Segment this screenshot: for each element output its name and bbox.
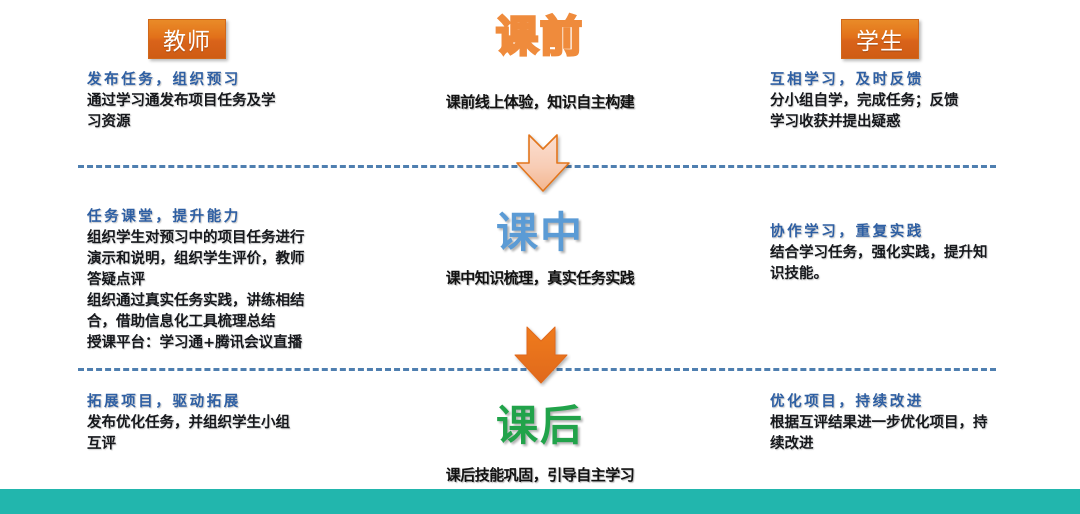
stage-caption-in-class: 课中知识梳理，真实任务实践	[380, 267, 700, 288]
badge-student: 学生	[841, 19, 919, 59]
bottom-accent-bar	[0, 489, 1080, 514]
student-block-3-heading: 优化项目，持续改进	[770, 392, 1042, 413]
student-block-3-line-2: 续改进	[770, 434, 1042, 455]
student-block-1-heading: 互相学习，及时反馈	[770, 70, 1042, 91]
student-block-1-line-1: 分小组自学，完成任务；反馈	[770, 91, 1042, 112]
teacher-block-2-line-1: 组织学生对预习中的项目任务进行	[87, 228, 367, 249]
teacher-block-3-heading: 拓展项目，驱动拓展	[87, 392, 359, 413]
teacher-block-2-line-5: 合，借助信息化工具梳理总结	[87, 312, 367, 333]
teacher-block-2-line-4: 组织通过真实任务实践，讲练相结	[87, 291, 367, 312]
stage-caption-before-class: 课前线上体验，知识自主构建	[380, 91, 700, 112]
student-block-3-line-1: 根据互评结果进一步优化项目，持	[770, 413, 1042, 434]
student-block-2-line-1: 结合学习任务，强化实践，提升知	[770, 243, 1042, 264]
teacher-block-2-line-6: 授课平台：学习通+腾讯会议直播	[87, 333, 367, 354]
teacher-block-1-heading: 发布任务，组织预习	[87, 70, 359, 91]
teacher-block-2-heading: 任务课堂，提升能力	[87, 207, 367, 228]
stage-caption-after-class: 课后技能巩固，引导自主学习	[380, 464, 700, 485]
teacher-block-1-line-1: 通过学习通发布项目任务及学	[87, 91, 359, 112]
teacher-block-2-line-3: 答疑点评	[87, 270, 367, 291]
teacher-block-after-class: 拓展项目，驱动拓展 发布优化任务，并组织学生小组 互评	[87, 392, 359, 455]
stage-title-in-class: 课中	[410, 212, 670, 254]
student-block-before-class: 互相学习，及时反馈 分小组自学，完成任务；反馈 学习收获并提出疑惑	[770, 70, 1042, 133]
stage-title-after-class: 课后	[410, 405, 670, 447]
student-block-2-line-2: 识技能。	[770, 264, 1042, 285]
teacher-block-3-line-2: 互评	[87, 434, 359, 455]
teacher-block-2-line-2: 演示和说明，组织学生评价，教师	[87, 249, 367, 270]
teacher-block-in-class: 任务课堂，提升能力 组织学生对预习中的项目任务进行 演示和说明，组织学生评价，教…	[87, 207, 367, 354]
badge-teacher: 教师	[148, 19, 226, 59]
teacher-block-before-class: 发布任务，组织预习 通过学习通发布项目任务及学 习资源	[87, 70, 359, 133]
arrow-in-to-after-icon	[511, 325, 571, 392]
student-block-in-class: 协作学习，重复实践 结合学习任务，强化实践，提升知 识技能。	[770, 222, 1042, 285]
student-block-1-line-2: 学习收获并提出疑惑	[770, 112, 1042, 133]
arrow-before-to-in-icon	[513, 133, 573, 200]
teacher-block-3-line-1: 发布优化任务，并组织学生小组	[87, 413, 359, 434]
slide-canvas: 教师 学生 课前 课前线上体验，知识自主构建 课中 课中知识梳理，真实任务实践 …	[0, 0, 1080, 514]
teacher-block-1-line-2: 习资源	[87, 112, 359, 133]
student-block-2-heading: 协作学习，重复实践	[770, 222, 1042, 243]
student-block-after-class: 优化项目，持续改进 根据互评结果进一步优化项目，持 续改进	[770, 392, 1042, 455]
stage-title-before-class: 课前	[410, 16, 670, 58]
